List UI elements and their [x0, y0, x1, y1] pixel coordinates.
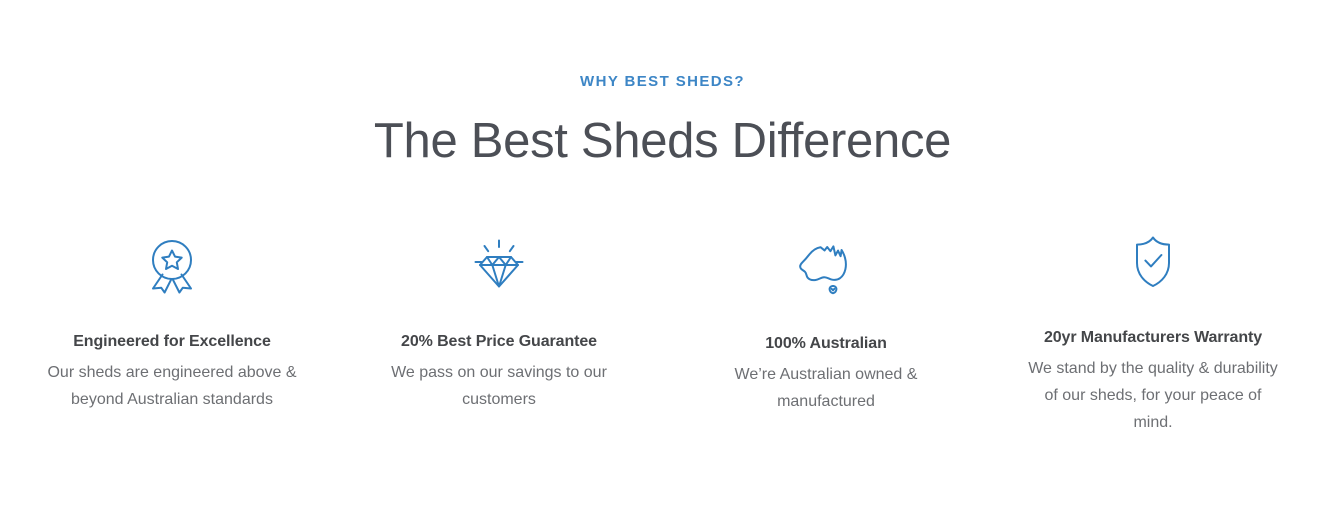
australia-map-icon [796, 242, 856, 298]
feature-description: We stand by the quality & durability of … [1028, 356, 1278, 437]
award-ribbon-icon [146, 238, 198, 294]
feature-item: 100% Australian We’re Australian owned &… [663, 232, 990, 416]
feature-title: 100% Australian [765, 334, 887, 355]
feature-title: Engineered for Excellence [73, 332, 271, 353]
diamond-icon [471, 238, 527, 294]
feature-item: 20yr Manufacturers Warranty We stand by … [990, 232, 1317, 436]
shield-check-icon [1128, 234, 1178, 290]
feature-description: We’re Australian owned & manufactured [701, 362, 951, 416]
page-title: The Best Sheds Difference [0, 114, 1325, 169]
section-header: WHY BEST SHEDS? The Best Sheds Differenc… [0, 0, 1325, 169]
feature-title: 20yr Manufacturers Warranty [1044, 328, 1262, 349]
feature-title: 20% Best Price Guarantee [401, 332, 597, 353]
feature-item: 20% Best Price Guarantee We pass on our … [336, 232, 663, 414]
section-eyebrow: WHY BEST SHEDS? [0, 74, 1325, 89]
feature-list: Engineered for Excellence Our sheds are … [0, 232, 1325, 436]
feature-description: Our sheds are engineered above & beyond … [47, 360, 297, 414]
why-best-sheds-section: WHY BEST SHEDS? The Best Sheds Differenc… [0, 0, 1325, 516]
feature-description: We pass on our savings to our customers [374, 360, 624, 414]
feature-item: Engineered for Excellence Our sheds are … [9, 232, 336, 414]
